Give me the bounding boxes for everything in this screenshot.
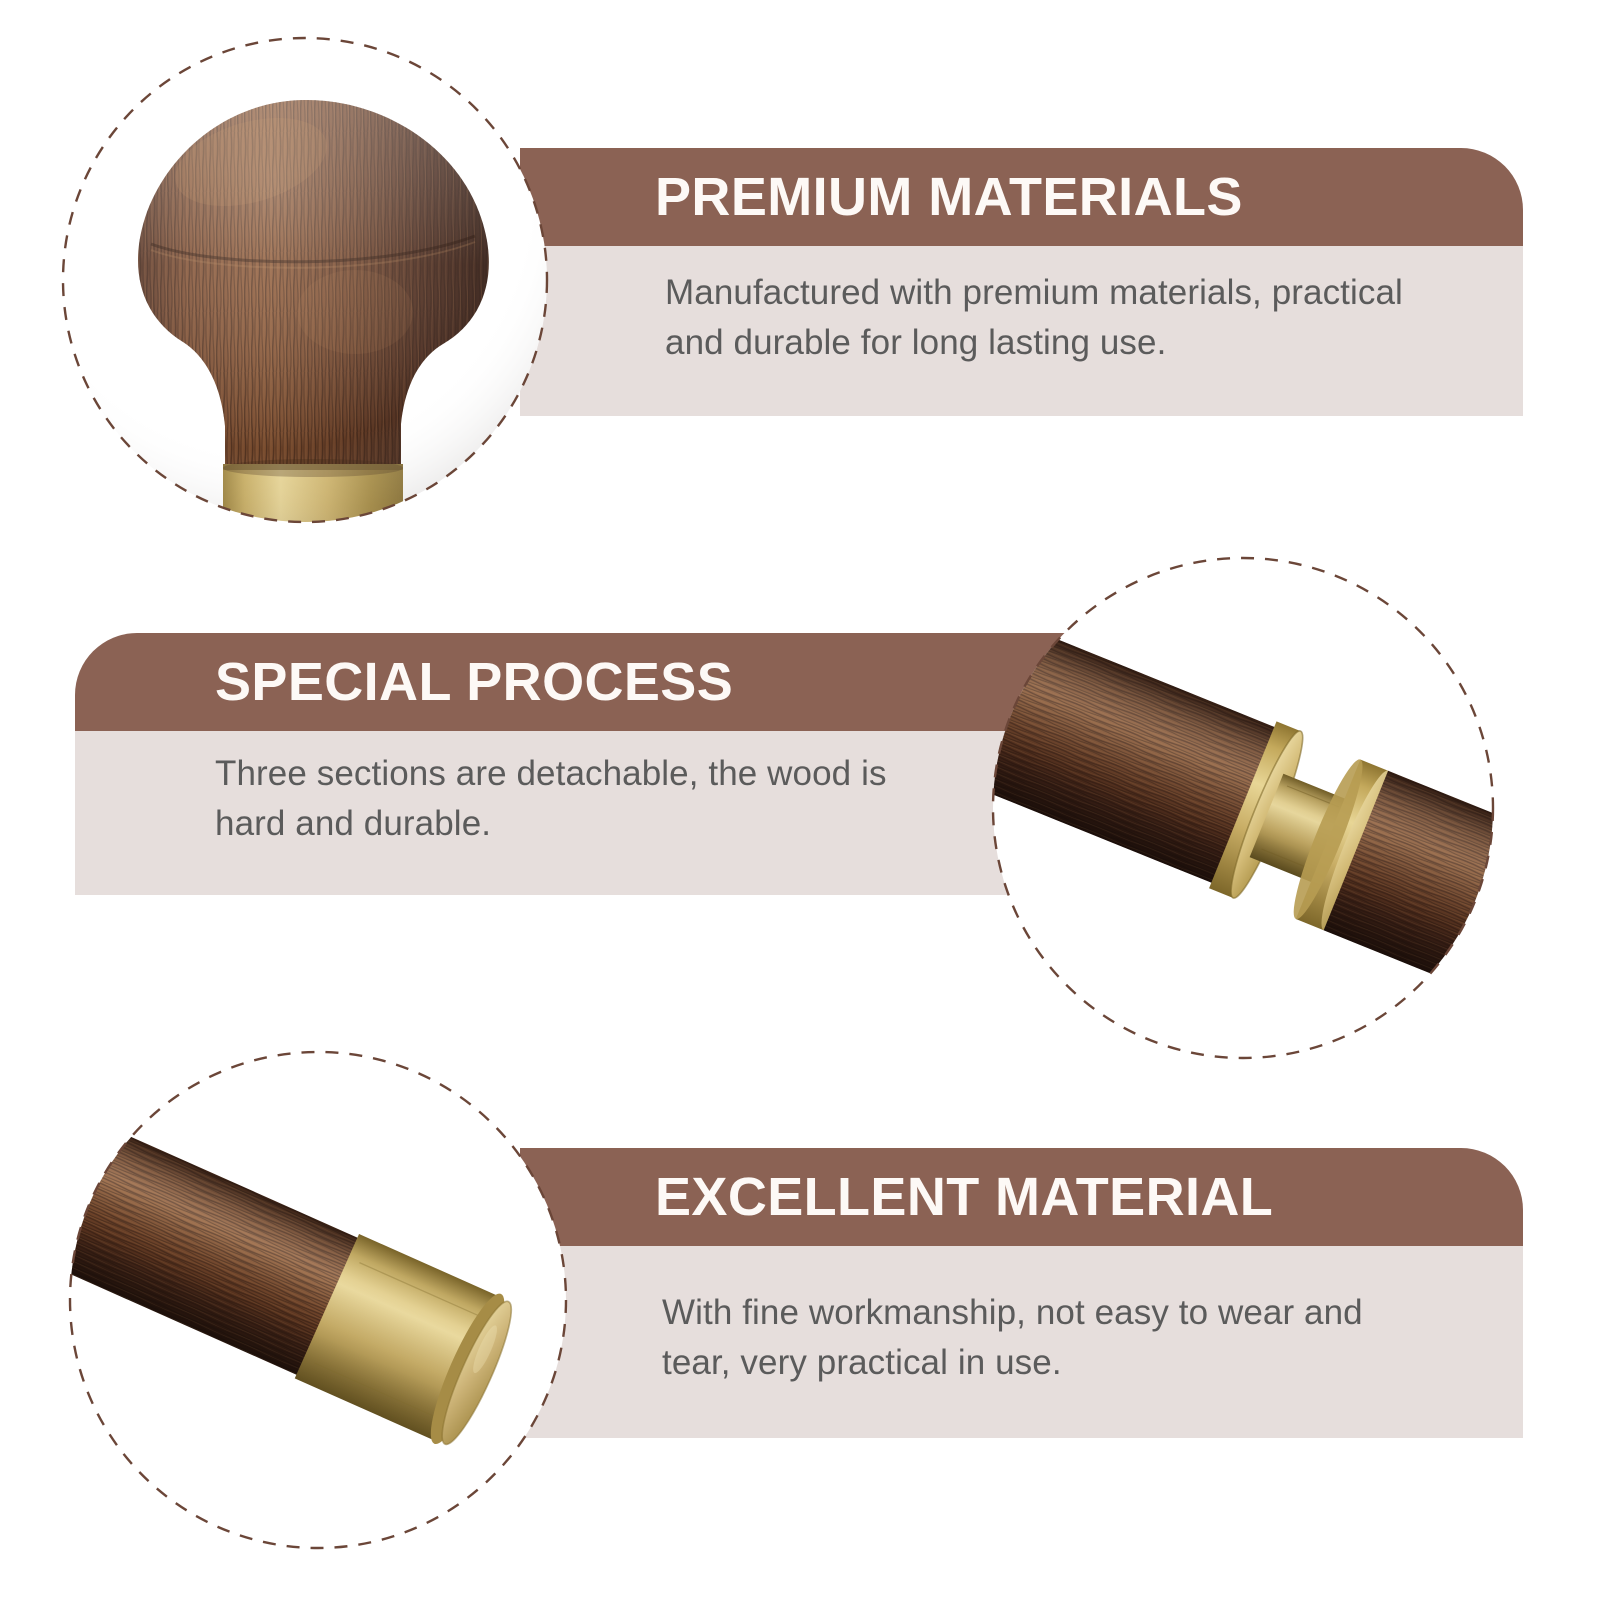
brass-ferrule-image [60,1042,580,1562]
feature-body-excellent-material: With fine workmanship, not easy to wear … [662,1288,1522,1387]
product-photo-brass-ferrule [60,1042,580,1562]
feature-panel-excellent-material: With fine workmanship, not easy to wear … [520,1246,1523,1438]
infographic-canvas: PREMIUM MATERIALS Manufactured with prem… [0,0,1600,1600]
feature-banner-excellent-material: EXCELLENT MATERIAL [520,1148,1523,1246]
feature-title-excellent-material: EXCELLENT MATERIAL [655,1170,1273,1224]
